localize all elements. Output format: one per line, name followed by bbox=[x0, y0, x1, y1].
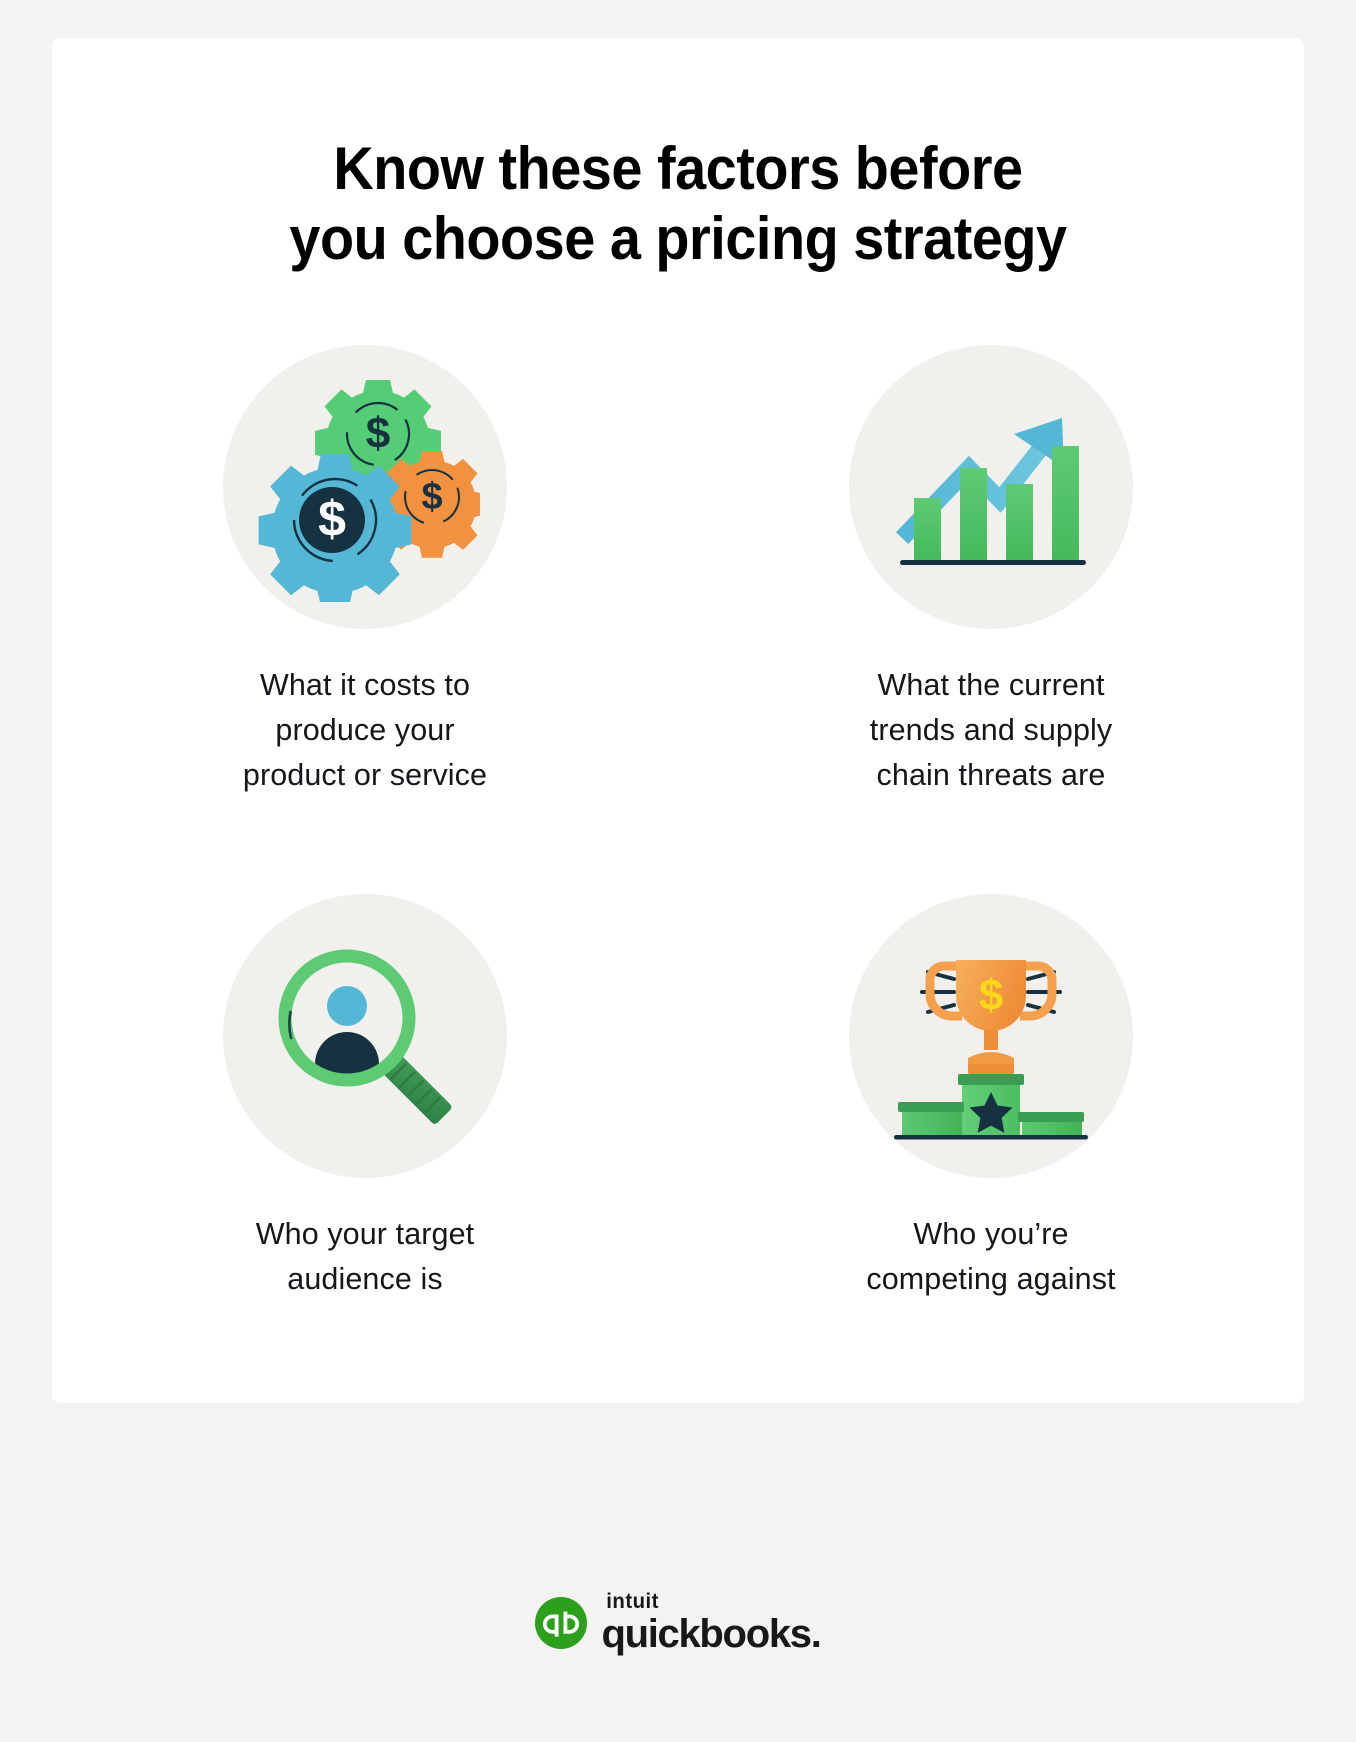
podium-center-top bbox=[958, 1074, 1024, 1085]
podium-right-top bbox=[1018, 1112, 1084, 1122]
podium-baseline bbox=[894, 1135, 1088, 1140]
magnifier-person-icon bbox=[223, 894, 507, 1178]
growth-chart-svg bbox=[886, 382, 1096, 592]
factor-caption: What it costs to produce your product or… bbox=[243, 663, 487, 797]
trophy-stem bbox=[984, 1030, 998, 1050]
trophy-podium-icon: $ bbox=[849, 894, 1133, 1178]
magnifier-person-svg bbox=[255, 926, 475, 1146]
content-card: Know these factors before you choose a p… bbox=[52, 38, 1304, 1403]
trophy-podium-svg: $ bbox=[876, 926, 1106, 1146]
infographic-page: Know these factors before you choose a p… bbox=[0, 0, 1356, 1742]
caption-line: trends and supply bbox=[870, 713, 1112, 747]
trophy-dollar: $ bbox=[979, 971, 1003, 1020]
bar-3 bbox=[1006, 484, 1033, 560]
page-title: Know these factors before you choose a p… bbox=[213, 134, 1143, 273]
factor-caption: Who your target audience is bbox=[256, 1212, 475, 1302]
caption-line: audience is bbox=[287, 1262, 442, 1296]
svg-text:$: $ bbox=[366, 409, 390, 458]
page-title-line-2: you choose a pricing strategy bbox=[213, 204, 1143, 274]
quickbooks-wordmark: quickbooks. bbox=[601, 1614, 820, 1654]
factor-item-audience: Who your target audience is bbox=[52, 894, 678, 1302]
caption-line: Who your target bbox=[256, 1217, 475, 1251]
growth-chart-arrow-icon bbox=[849, 345, 1133, 629]
svg-text:$: $ bbox=[318, 491, 346, 547]
bar-1 bbox=[914, 498, 941, 560]
factor-item-trends: What the current trends and supply chain… bbox=[678, 345, 1304, 797]
factor-item-competitors: $ Who you’re competing against bbox=[678, 894, 1304, 1302]
page-title-line-1: Know these factors before bbox=[213, 134, 1143, 204]
caption-line: What it costs to bbox=[260, 668, 470, 702]
caption-line: competing against bbox=[866, 1262, 1115, 1296]
intuit-wordmark: intuit bbox=[607, 1591, 818, 1612]
caption-line: Who you’re bbox=[913, 1217, 1068, 1251]
factor-item-cost: $ $ $ bbox=[52, 345, 678, 797]
podium-left-top bbox=[898, 1102, 964, 1112]
svg-text:$: $ bbox=[421, 476, 442, 518]
bar-4 bbox=[1052, 446, 1079, 560]
caption-line: What the current bbox=[877, 668, 1104, 702]
qb-circle-icon bbox=[535, 1597, 587, 1649]
bar-2 bbox=[960, 468, 987, 560]
trophy-base bbox=[968, 1064, 1014, 1074]
person-head bbox=[327, 986, 367, 1026]
factor-caption: What the current trends and supply chain… bbox=[870, 663, 1112, 797]
factor-caption: Who you’re competing against bbox=[866, 1212, 1115, 1302]
caption-line: chain threats are bbox=[877, 758, 1106, 792]
logo-wordmark: intuit quickbooks. bbox=[601, 1591, 820, 1654]
caption-line: produce your bbox=[275, 713, 454, 747]
chart-baseline bbox=[900, 560, 1086, 565]
trophy-base-top bbox=[968, 1052, 1014, 1066]
gears-dollar-svg: $ $ $ bbox=[250, 372, 480, 602]
quickbooks-logo: intuit quickbooks. bbox=[0, 1591, 1356, 1654]
podium-left bbox=[902, 1112, 962, 1135]
factor-grid: $ $ $ bbox=[52, 345, 1304, 1301]
gears-dollar-icon: $ $ $ bbox=[223, 345, 507, 629]
blue-gear: $ bbox=[259, 454, 412, 602]
caption-line: product or service bbox=[243, 758, 487, 792]
podium-right bbox=[1022, 1122, 1082, 1135]
